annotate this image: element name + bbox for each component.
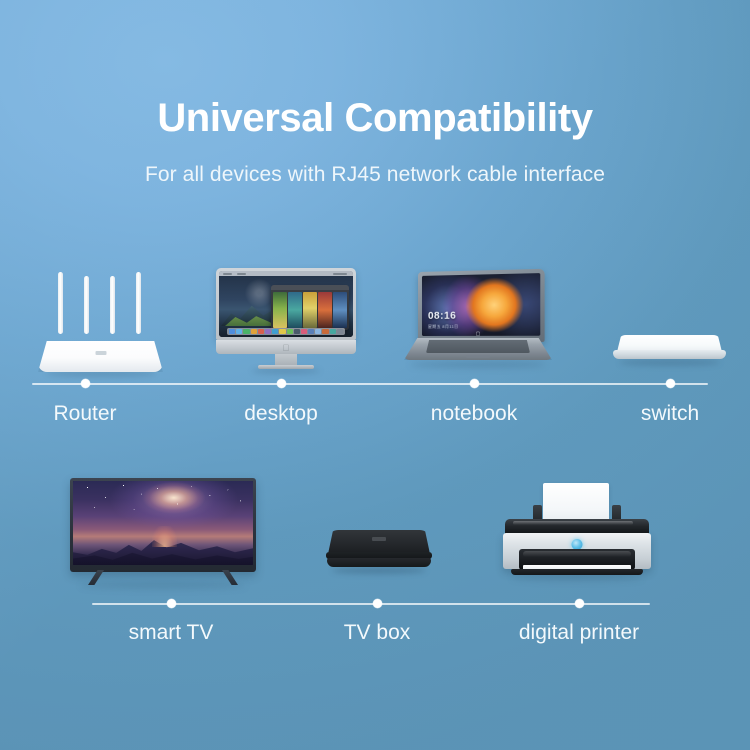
- device-label-digital-printer: digital printer: [519, 621, 639, 645]
- switch-shadow: [619, 359, 720, 366]
- printer-base: [511, 569, 643, 575]
- device-label-router: Router: [53, 402, 116, 426]
- connector-dot-router: [81, 379, 90, 388]
- device-label-switch: switch: [641, 402, 699, 426]
- connector-rail-row-1: [32, 383, 708, 385]
- device-network-switch: [613, 335, 726, 367]
- notebook-screen: 08:16 星期五 8月11日: [422, 273, 540, 336]
- desktop-stand-foot: [258, 365, 314, 369]
- connector-dot-digital-printer: [575, 599, 584, 608]
- notebook-trackpad: [466, 355, 490, 358]
- device-desktop-computer: : [216, 268, 356, 373]
- desktop-bezel: [216, 268, 356, 340]
- router-logo-icon: [95, 351, 106, 355]
- router-antenna-1: [58, 272, 63, 334]
- photo-thumb: [333, 292, 347, 328]
- notebook-brand-logo-icon: ▢: [474, 332, 482, 336]
- tv-shadow: [80, 582, 246, 589]
- tv-box-shadow: [332, 567, 426, 574]
- promo-image-canvas: Universal Compatibility For all devices …: [0, 0, 750, 750]
- apple-logo-icon: : [283, 344, 290, 352]
- device-router: [38, 272, 163, 372]
- router-antenna-4: [136, 272, 141, 334]
- tv-box-bottom-face: [327, 558, 431, 567]
- connector-dot-tv-box: [373, 599, 382, 608]
- desktop-dock[interactable]: [227, 328, 345, 335]
- device-smart-tv: [70, 478, 256, 588]
- connector-dot-switch: [666, 379, 675, 388]
- device-tv-box: [326, 530, 432, 578]
- tv-frame: [70, 478, 256, 572]
- router-antenna-2: [84, 276, 89, 334]
- device-label-desktop: desktop: [244, 402, 318, 426]
- desktop-screen: [219, 271, 353, 337]
- device-label-smart-tv: smart TV: [129, 621, 214, 645]
- device-notebook: 08:16 星期五 8月11日 ▢: [404, 272, 552, 372]
- page-title: Universal Compatibility: [0, 96, 750, 140]
- photo-thumb: [273, 292, 287, 328]
- connector-dot-desktop: [277, 379, 286, 388]
- device-label-tv-box: TV box: [344, 621, 411, 645]
- photo-thumb: [318, 292, 332, 328]
- printer-output-slot-highlight: [523, 551, 631, 557]
- tv-box-top-face: [328, 530, 430, 554]
- router-antenna-3: [110, 276, 115, 334]
- device-label-notebook: notebook: [431, 402, 517, 426]
- photo-thumbnail-grid: [271, 290, 349, 330]
- tv-screen: [73, 481, 253, 565]
- connector-dot-smart-tv: [167, 599, 176, 608]
- notebook-shadow: [410, 361, 546, 368]
- photo-thumb: [288, 292, 302, 328]
- router-body: [38, 341, 163, 372]
- desktop-photos-window: [271, 285, 349, 330]
- notebook-clock-subtext: 星期五 8月11日: [428, 323, 459, 329]
- notebook-keyboard: [426, 340, 530, 353]
- tv-wallpaper-glow: [152, 526, 177, 546]
- printer-shadow: [511, 574, 643, 581]
- switch-front-face: [613, 350, 726, 359]
- device-digital-printer: [499, 483, 655, 583]
- photo-thumb: [303, 292, 317, 328]
- desktop-menu-bar: [219, 271, 353, 276]
- printer-top-highlight: [513, 521, 633, 525]
- page-subtitle: For all devices with RJ45 network cable …: [0, 163, 750, 187]
- notebook-clock: 08:16: [428, 311, 456, 321]
- connector-dot-notebook: [470, 379, 479, 388]
- tv-box-logo-icon: [372, 537, 386, 541]
